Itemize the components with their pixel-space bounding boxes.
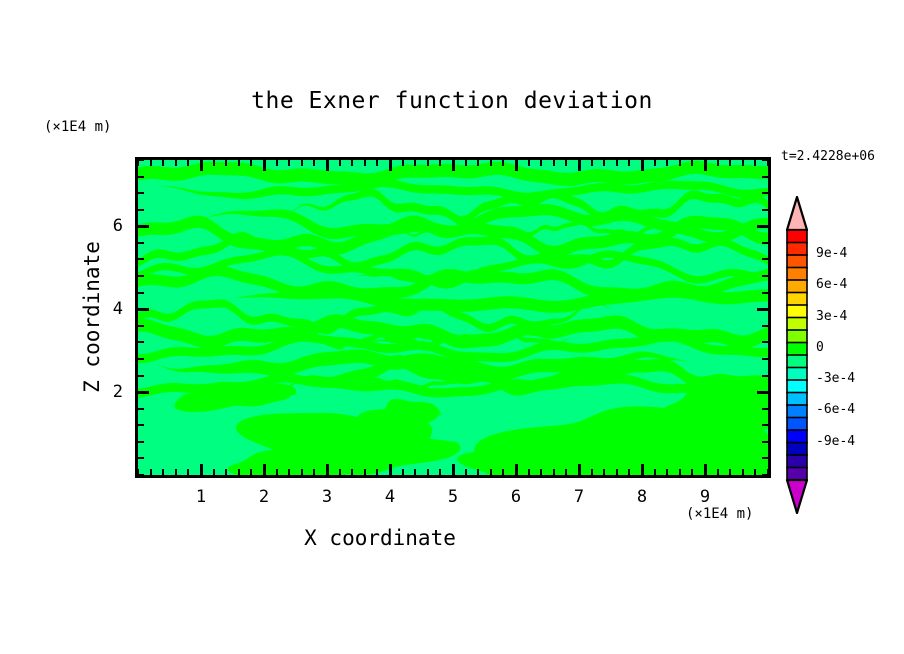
x-minor-tick — [591, 469, 593, 475]
y-minor-tick — [138, 159, 144, 161]
x-major-tick — [452, 464, 455, 475]
x-major-tick — [389, 464, 392, 475]
y-minor-tick — [138, 358, 144, 360]
x-minor-tick — [490, 160, 492, 166]
y-minor-tick — [762, 292, 768, 294]
y-minor-tick — [138, 408, 144, 410]
colorbar-band — [787, 280, 807, 293]
y-minor-tick — [762, 159, 768, 161]
colorbar-band — [787, 468, 807, 481]
x-minor-tick — [150, 160, 152, 166]
x-axis-title: X coordinate — [0, 526, 760, 550]
x-tick-label: 8 — [622, 487, 662, 507]
x-minor-tick — [742, 160, 744, 166]
colorbar-tick-label: 0 — [816, 340, 824, 355]
x-tick-label: 4 — [370, 487, 410, 507]
x-minor-tick — [691, 160, 693, 166]
x-minor-tick — [742, 469, 744, 475]
x-major-tick — [326, 464, 329, 475]
x-major-tick — [578, 464, 581, 475]
timestamp-label: t=2.4228e+06 — [781, 149, 875, 164]
y-minor-tick — [762, 341, 768, 343]
x-minor-tick — [351, 469, 353, 475]
y-minor-tick — [138, 341, 144, 343]
x-tick-label: 1 — [181, 487, 221, 507]
x-minor-tick — [717, 160, 719, 166]
colorbar-band — [787, 305, 807, 318]
x-major-tick — [704, 464, 707, 475]
x-minor-tick — [313, 469, 315, 475]
x-minor-tick — [301, 160, 303, 166]
x-minor-tick — [427, 469, 429, 475]
x-minor-tick — [439, 160, 441, 166]
x-minor-tick — [376, 469, 378, 475]
x-minor-tick — [427, 160, 429, 166]
x-minor-tick — [654, 160, 656, 166]
x-tick-label: 7 — [559, 487, 599, 507]
y-minor-tick — [138, 258, 144, 260]
x-minor-tick — [553, 160, 555, 166]
x-minor-tick — [276, 160, 278, 166]
x-major-tick — [452, 160, 455, 171]
colorbar-band — [787, 268, 807, 281]
x-minor-tick — [364, 469, 366, 475]
x-minor-tick — [565, 160, 567, 166]
colorbar-band — [787, 293, 807, 306]
x-minor-tick — [666, 469, 668, 475]
y-minor-tick — [138, 441, 144, 443]
y-major-tick — [757, 225, 768, 228]
x-major-tick — [515, 160, 518, 171]
x-minor-tick — [666, 160, 668, 166]
x-minor-tick — [175, 469, 177, 475]
x-minor-tick — [465, 469, 467, 475]
y-minor-tick — [138, 176, 144, 178]
contour-plot-area — [135, 157, 771, 478]
colorbar-band — [787, 443, 807, 456]
x-minor-tick — [565, 469, 567, 475]
x-minor-tick — [729, 160, 731, 166]
x-minor-tick — [603, 469, 605, 475]
colorbar-band — [787, 393, 807, 406]
colorbar-band — [787, 380, 807, 393]
x-minor-tick — [465, 160, 467, 166]
x-minor-tick — [276, 469, 278, 475]
x-major-tick — [578, 160, 581, 171]
x-major-tick — [515, 464, 518, 475]
x-minor-tick — [679, 469, 681, 475]
x-minor-tick — [628, 469, 630, 475]
y-major-tick — [138, 225, 149, 228]
y-minor-tick — [138, 325, 144, 327]
y-minor-tick — [138, 375, 144, 377]
x-minor-tick — [591, 160, 593, 166]
x-minor-tick — [162, 469, 164, 475]
x-minor-tick — [238, 160, 240, 166]
x-minor-tick — [250, 469, 252, 475]
x-minor-tick — [213, 160, 215, 166]
x-minor-tick — [288, 469, 290, 475]
x-major-tick — [263, 464, 266, 475]
colorbar-tick-label: 3e-4 — [816, 309, 847, 324]
colorbar-over-cap — [787, 197, 807, 230]
y-major-tick — [138, 391, 149, 394]
x-tick-label: 3 — [307, 487, 347, 507]
y-minor-tick — [762, 424, 768, 426]
y-minor-tick — [762, 258, 768, 260]
y-minor-tick — [762, 408, 768, 410]
y-minor-tick — [762, 457, 768, 459]
x-minor-tick — [339, 160, 341, 166]
x-tick-label: 9 — [685, 487, 725, 507]
x-minor-tick — [187, 469, 189, 475]
colorbar-band — [787, 455, 807, 468]
x-minor-tick — [540, 469, 542, 475]
y-minor-tick — [762, 242, 768, 244]
x-minor-tick — [729, 469, 731, 475]
x-major-tick — [326, 160, 329, 171]
x-minor-tick — [616, 160, 618, 166]
x-minor-tick — [502, 469, 504, 475]
colorbar-band — [787, 355, 807, 368]
x-minor-tick — [717, 469, 719, 475]
y-minor-tick — [762, 375, 768, 377]
y-major-tick — [757, 308, 768, 311]
y-minor-tick — [762, 275, 768, 277]
x-minor-tick — [754, 469, 756, 475]
y-minor-tick — [762, 192, 768, 194]
x-minor-tick — [402, 160, 404, 166]
y-minor-tick — [762, 441, 768, 443]
colorbar-tick-label: -3e-4 — [816, 371, 855, 386]
colorbar-band — [787, 255, 807, 268]
y-major-tick — [757, 391, 768, 394]
x-minor-tick — [150, 469, 152, 475]
x-tick-label: 6 — [496, 487, 536, 507]
x-minor-tick — [301, 469, 303, 475]
x-minor-tick — [187, 160, 189, 166]
x-minor-tick — [364, 160, 366, 166]
x-minor-tick — [654, 469, 656, 475]
x-axis-unit-label: (×1E4 m) — [686, 506, 753, 522]
x-major-tick — [641, 160, 644, 171]
colorbar — [784, 196, 810, 514]
y-tick-label: 4 — [83, 299, 123, 319]
x-minor-tick — [225, 160, 227, 166]
colorbar-tick-label: -6e-4 — [816, 402, 855, 417]
x-minor-tick — [439, 469, 441, 475]
y-tick-label: 2 — [83, 382, 123, 402]
x-minor-tick — [213, 469, 215, 475]
x-minor-tick — [250, 160, 252, 166]
x-major-tick — [641, 464, 644, 475]
x-minor-tick — [553, 469, 555, 475]
colorbar-swatches — [784, 196, 810, 514]
x-minor-tick — [238, 469, 240, 475]
x-minor-tick — [679, 160, 681, 166]
colorbar-tick-label: 6e-4 — [816, 277, 847, 292]
x-minor-tick — [162, 160, 164, 166]
x-major-tick — [704, 160, 707, 171]
y-minor-tick — [762, 176, 768, 178]
y-minor-tick — [138, 457, 144, 459]
y-minor-tick — [762, 325, 768, 327]
colorbar-tick-label: -9e-4 — [816, 434, 855, 449]
x-minor-tick — [528, 469, 530, 475]
y-minor-tick — [138, 192, 144, 194]
x-minor-tick — [414, 160, 416, 166]
x-minor-tick — [540, 160, 542, 166]
x-minor-tick — [376, 160, 378, 166]
x-minor-tick — [502, 160, 504, 166]
y-major-tick — [138, 308, 149, 311]
x-tick-label: 5 — [433, 487, 473, 507]
x-minor-tick — [603, 160, 605, 166]
x-minor-tick — [628, 160, 630, 166]
x-minor-tick — [225, 469, 227, 475]
colorbar-band — [787, 343, 807, 356]
x-minor-tick — [414, 469, 416, 475]
colorbar-band — [787, 405, 807, 418]
x-minor-tick — [477, 160, 479, 166]
x-minor-tick — [288, 160, 290, 166]
x-minor-tick — [528, 160, 530, 166]
colorbar-band — [787, 418, 807, 431]
y-minor-tick — [138, 275, 144, 277]
x-minor-tick — [175, 160, 177, 166]
x-minor-tick — [691, 469, 693, 475]
x-tick-label: 2 — [244, 487, 284, 507]
colorbar-band — [787, 368, 807, 381]
colorbar-band — [787, 243, 807, 256]
y-minor-tick — [762, 474, 768, 476]
y-minor-tick — [138, 424, 144, 426]
x-minor-tick — [313, 160, 315, 166]
x-major-tick — [200, 464, 203, 475]
y-minor-tick — [138, 242, 144, 244]
x-minor-tick — [754, 160, 756, 166]
x-minor-tick — [351, 160, 353, 166]
x-minor-tick — [616, 469, 618, 475]
figure-canvas: the Exner function deviation (×1E4 m) (×… — [0, 0, 904, 654]
x-minor-tick — [402, 469, 404, 475]
y-minor-tick — [138, 474, 144, 476]
x-major-tick — [263, 160, 266, 171]
y-minor-tick — [762, 358, 768, 360]
x-major-tick — [200, 160, 203, 171]
y-minor-tick — [762, 209, 768, 211]
y-minor-tick — [138, 209, 144, 211]
y-tick-label: 6 — [83, 216, 123, 236]
y-axis-unit-label: (×1E4 m) — [44, 119, 111, 135]
colorbar-under-cap — [787, 480, 807, 513]
x-minor-tick — [339, 469, 341, 475]
colorbar-band — [787, 430, 807, 443]
chart-title: the Exner function deviation — [0, 88, 904, 114]
contour-field — [138, 160, 768, 475]
x-minor-tick — [477, 469, 479, 475]
y-minor-tick — [138, 292, 144, 294]
x-minor-tick — [490, 469, 492, 475]
colorbar-band — [787, 330, 807, 343]
colorbar-band — [787, 230, 807, 243]
x-major-tick — [389, 160, 392, 171]
colorbar-tick-label: 9e-4 — [816, 246, 847, 261]
colorbar-band — [787, 318, 807, 331]
